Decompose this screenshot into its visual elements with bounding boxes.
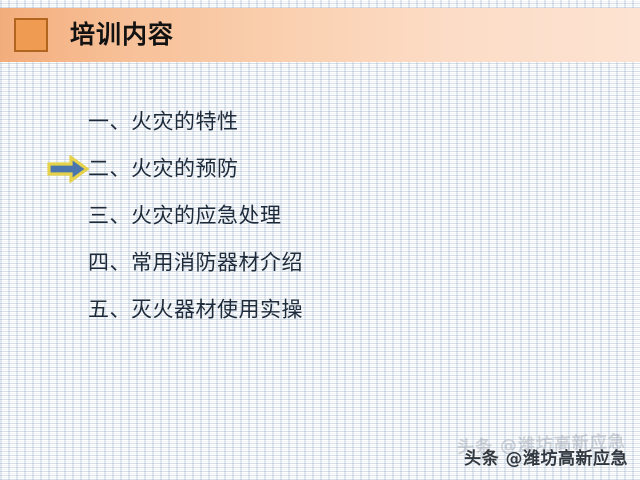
watermark: 头条 @潍坊高新应急 头条 @潍坊高新应急 — [456, 430, 632, 472]
watermark-text: 头条 @潍坊高新应急 — [464, 451, 628, 468]
orange-square-bullet-icon — [14, 18, 48, 52]
list-item[interactable]: 一、火灾的特性 — [0, 98, 640, 145]
page-title: 培训内容 — [70, 22, 174, 47]
list-item[interactable]: 五、灭火器材使用实操 — [0, 286, 640, 333]
slide-header-band: 培训内容 — [0, 8, 640, 62]
training-content-list: 一、火灾的特性 二、火灾的预防 三、火灾的应急处理 四、常用消防器材介绍 五、灭… — [0, 98, 640, 333]
list-item[interactable]: 二、火灾的预防 — [0, 145, 640, 192]
right-arrow-icon — [47, 155, 89, 183]
list-item-label: 四、常用消防器材介绍 — [88, 252, 303, 273]
list-item-label: 一、火灾的特性 — [88, 111, 239, 132]
list-item-label: 五、灭火器材使用实操 — [88, 299, 303, 320]
list-item-label: 三、火灾的应急处理 — [88, 205, 282, 226]
list-item-label: 二、火灾的预防 — [88, 158, 239, 179]
list-item[interactable]: 三、火灾的应急处理 — [0, 192, 640, 239]
presentation-slide: 培训内容 一、火灾的特性 二、火灾的预防 三、火灾的应急处理 四、常用消防器材介… — [0, 0, 640, 480]
list-item[interactable]: 四、常用消防器材介绍 — [0, 239, 640, 286]
